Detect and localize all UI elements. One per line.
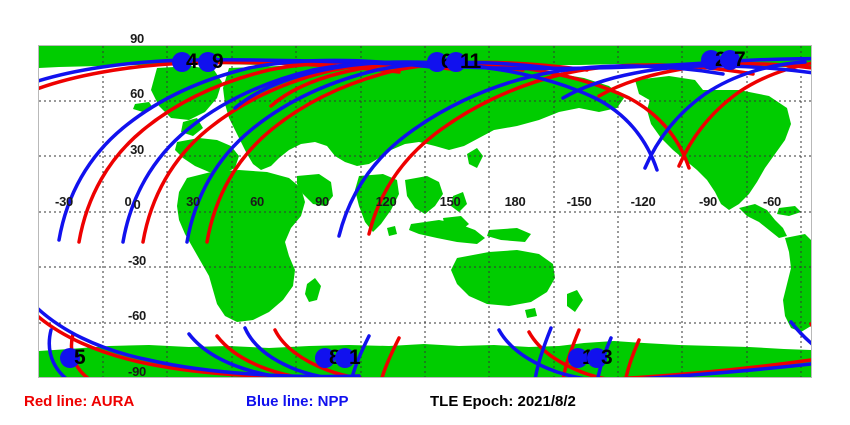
- satellite-marker-10[interactable]: 10: [568, 348, 588, 368]
- satellite-marker-3[interactable]: 3: [587, 348, 607, 368]
- lat-tick-0: 0: [134, 197, 141, 212]
- satellite-marker-label: 3: [601, 346, 612, 370]
- map-canvas: [39, 46, 811, 377]
- satellite-marker-4[interactable]: 4: [172, 52, 192, 72]
- lat-tick--30: -30: [128, 253, 146, 268]
- lon-tick--60: -60: [763, 194, 781, 209]
- satellite-marker-label: 4: [186, 50, 197, 74]
- lon-tick--150: -150: [567, 194, 592, 209]
- lat-tick-60: 60: [130, 86, 144, 101]
- legend-aura-red: Red line: AURA: [24, 393, 134, 410]
- satellite-marker-9[interactable]: 9: [198, 52, 218, 72]
- satellite-marker-11[interactable]: 11: [446, 52, 466, 72]
- lon-tick-60: 60: [250, 194, 264, 209]
- legend: Red line: AURA Blue line: NPP TLE Epoch:…: [0, 393, 850, 419]
- satellite-marker-label: 1: [349, 346, 360, 370]
- lon-tick-150: 150: [440, 194, 461, 209]
- world-map-plot: [38, 45, 812, 378]
- ground-track-map-page: -30 0 30 60 90 120 150 180 -150 -120 -90…: [0, 0, 850, 425]
- satellite-marker-5[interactable]: 5: [60, 348, 80, 368]
- legend-npp-blue: Blue line: NPP: [246, 393, 349, 410]
- satellite-marker-1[interactable]: 1: [335, 348, 355, 368]
- lon-tick-0: 0: [125, 194, 132, 209]
- lat-tick--90: -90: [128, 364, 146, 379]
- lat-tick-90: 90: [130, 31, 144, 46]
- lat-tick--60: -60: [128, 308, 146, 323]
- satellite-marker-label: 7: [734, 48, 745, 72]
- satellite-marker-label: 11: [460, 50, 480, 74]
- satellite-marker-label: 5: [74, 346, 85, 370]
- lon-tick-90: 90: [315, 194, 329, 209]
- lon-tick-180: 180: [505, 194, 526, 209]
- satellite-marker-8[interactable]: 8: [315, 348, 335, 368]
- lon-tick--90: -90: [699, 194, 717, 209]
- satellite-marker-6[interactable]: 6: [427, 52, 447, 72]
- satellite-marker-7[interactable]: 7: [720, 50, 740, 70]
- lon-tick--120: -120: [631, 194, 656, 209]
- lon-tick-120: 120: [376, 194, 397, 209]
- legend-tle-epoch: TLE Epoch: 2021/8/2: [430, 393, 576, 410]
- satellite-marker-label: 9: [212, 50, 223, 74]
- lon-tick-30: 30: [186, 194, 200, 209]
- lon-tick--30: -30: [55, 194, 73, 209]
- lat-tick-30: 30: [130, 142, 144, 157]
- satellite-marker-2[interactable]: 2: [701, 50, 721, 70]
